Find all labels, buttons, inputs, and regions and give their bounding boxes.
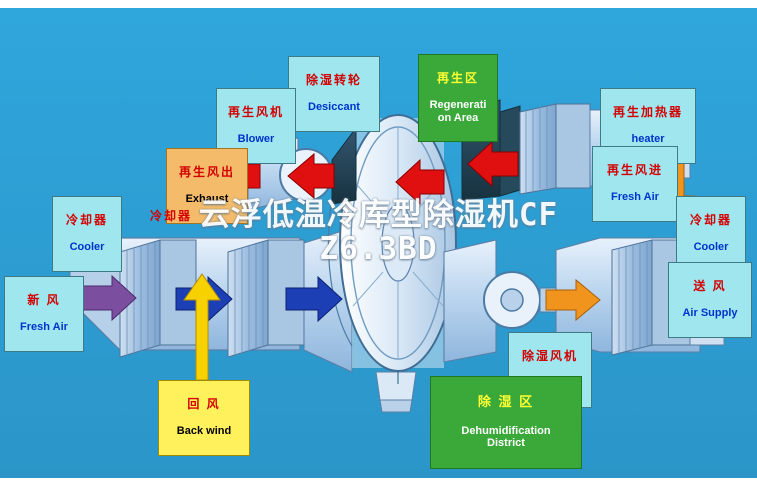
label-dehumidification-district: 除 湿 区 Dehumidification District [430, 376, 582, 469]
label-desiccant-wheel: 除湿转轮 Desiccant [288, 56, 380, 132]
label-air-supply: 送 风 Air Supply [668, 262, 752, 338]
label-air-supply-cn: 送 风 [671, 280, 749, 294]
regeneration-heater-shape [520, 104, 590, 194]
label-dehumidification-district-en: Dehumidification District [433, 425, 579, 450]
label-cooler-right: 冷却器 Cooler [676, 196, 746, 272]
label-regeneration-area-en: Regenerati on Area [421, 99, 495, 124]
label-air-supply-en: Air Supply [671, 307, 749, 320]
label-regeneration-exhaust-cn: 再生风出 [169, 166, 245, 180]
label-fresh-air-en: Fresh Air [7, 321, 81, 334]
label-fresh-air: 新 风 Fresh Air [4, 276, 84, 352]
label-cooler-left-cn: 冷却器 [55, 214, 119, 228]
label-cooler-right-cn: 冷却器 [679, 214, 743, 228]
label-back-wind-cn: 回 风 [161, 398, 247, 412]
label-dehumidification-blower-cn: 除湿风机 [511, 350, 589, 364]
label-back-wind: 回 风 Back wind [158, 380, 250, 456]
diagram-canvas: 除湿转轮 Desiccant 再生区 Regenerati on Area 再生… [0, 0, 757, 488]
label-cooler-center-cn: 冷却器 [140, 210, 202, 224]
label-cooler-center: 冷却器 [140, 196, 202, 237]
label-regeneration-heater-cn: 再生加热器 [603, 106, 693, 120]
label-desiccant-wheel-cn: 除湿转轮 [291, 74, 377, 88]
label-regeneration-blower-cn: 再生风机 [219, 106, 293, 120]
label-regeneration-fresh-air-in-cn: 再生风进 [595, 164, 675, 178]
label-back-wind-en: Back wind [161, 425, 247, 438]
label-desiccant-wheel-en: Desiccant [291, 101, 377, 114]
label-regeneration-area-cn: 再生区 [421, 72, 495, 86]
label-cooler-left-en: Cooler [55, 241, 119, 254]
label-regeneration-fresh-air-in-en: Fresh Air [595, 191, 675, 204]
label-cooler-left: 冷却器 Cooler [52, 196, 122, 272]
label-regeneration-blower-en: Blower [219, 133, 293, 146]
label-regeneration-fresh-air-in: 再生风进 Fresh Air [592, 146, 678, 222]
label-cooler-right-en: Cooler [679, 241, 743, 254]
label-fresh-air-cn: 新 风 [7, 294, 81, 308]
label-dehumidification-district-cn: 除 湿 区 [433, 395, 579, 410]
label-regeneration-heater-en: heater [603, 133, 693, 146]
label-regeneration-area: 再生区 Regenerati on Area [418, 54, 498, 142]
